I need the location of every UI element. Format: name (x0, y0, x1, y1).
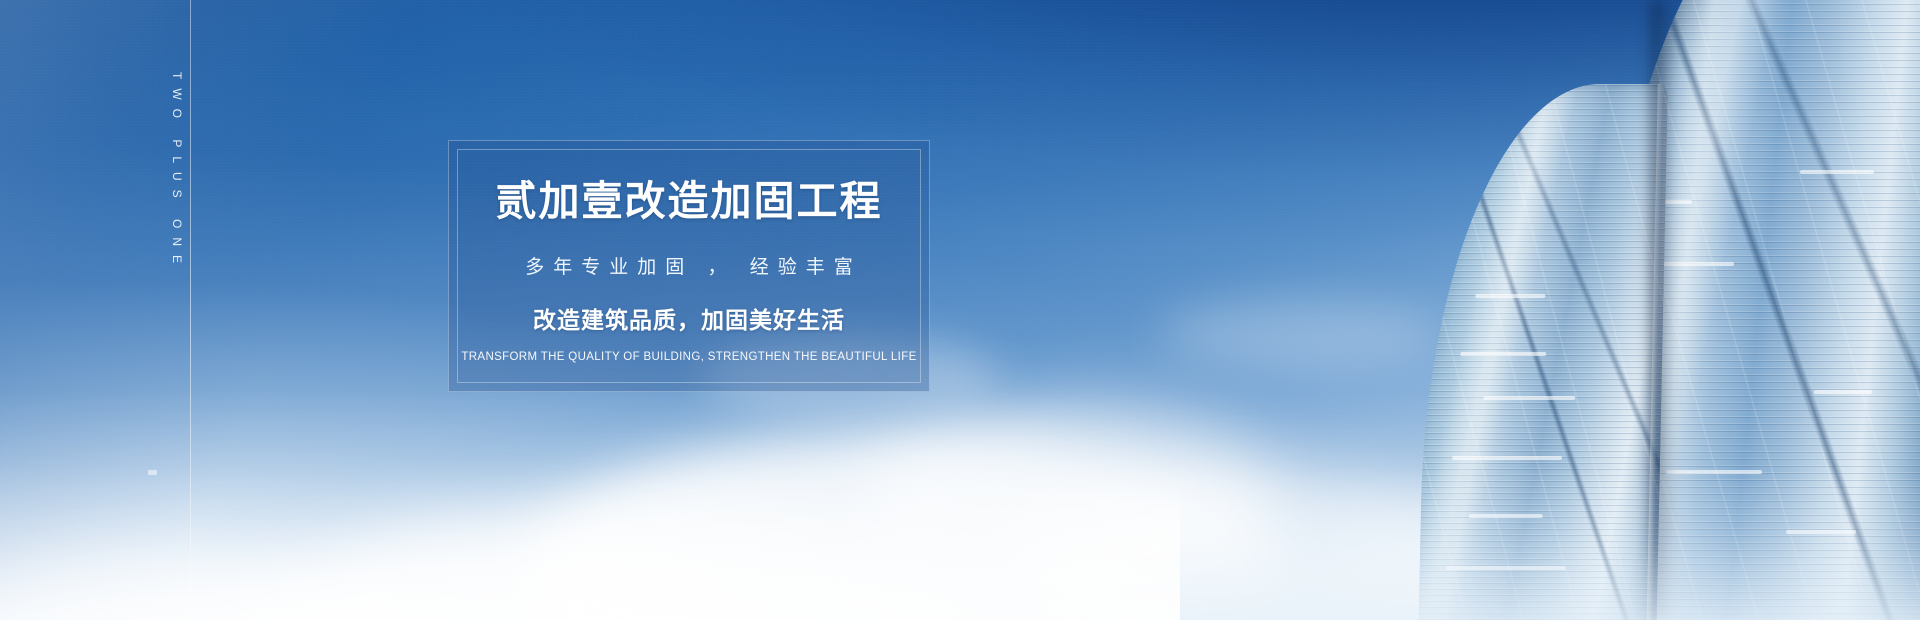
tower-lit-row (1475, 294, 1545, 298)
tower-lit-row (1460, 352, 1546, 356)
vertical-tick-mark (148, 470, 157, 475)
tower-lit-row (1452, 456, 1562, 460)
tower-base-haze (1180, 470, 1920, 620)
tower-lit-row (1483, 396, 1575, 400)
vertical-divider-line (190, 0, 191, 620)
tower-lit-row (1800, 170, 1874, 174)
hero-text-panel: 贰加壹改造加固工程 多年专业加固 ， 经验丰富 改造建筑品质，加固美好生活 TR… (448, 140, 930, 392)
tower-lit-row (1814, 390, 1872, 394)
hero-headline: 贰加壹改造加固工程 (496, 181, 883, 222)
vertical-brand-label: TWO PLUS ONE (170, 72, 184, 272)
hero-tagline: 改造建筑品质，加固美好生活 (533, 301, 845, 335)
hero-banner: TWO PLUS ONE 贰加壹改造加固工程 多年专业加固 ， 经验丰富 改造建… (0, 0, 1920, 620)
hero-panel-content: 贰加壹改造加固工程 多年专业加固 ， 经验丰富 改造建筑品质，加固美好生活 TR… (449, 141, 929, 391)
hero-english-tagline: TRANSFORM THE QUALITY OF BUILDING, STREN… (461, 351, 916, 363)
hero-subheadline: 多年专业加固 ， 经验丰富 (516, 252, 862, 279)
skyscraper-photo (1180, 0, 1920, 620)
